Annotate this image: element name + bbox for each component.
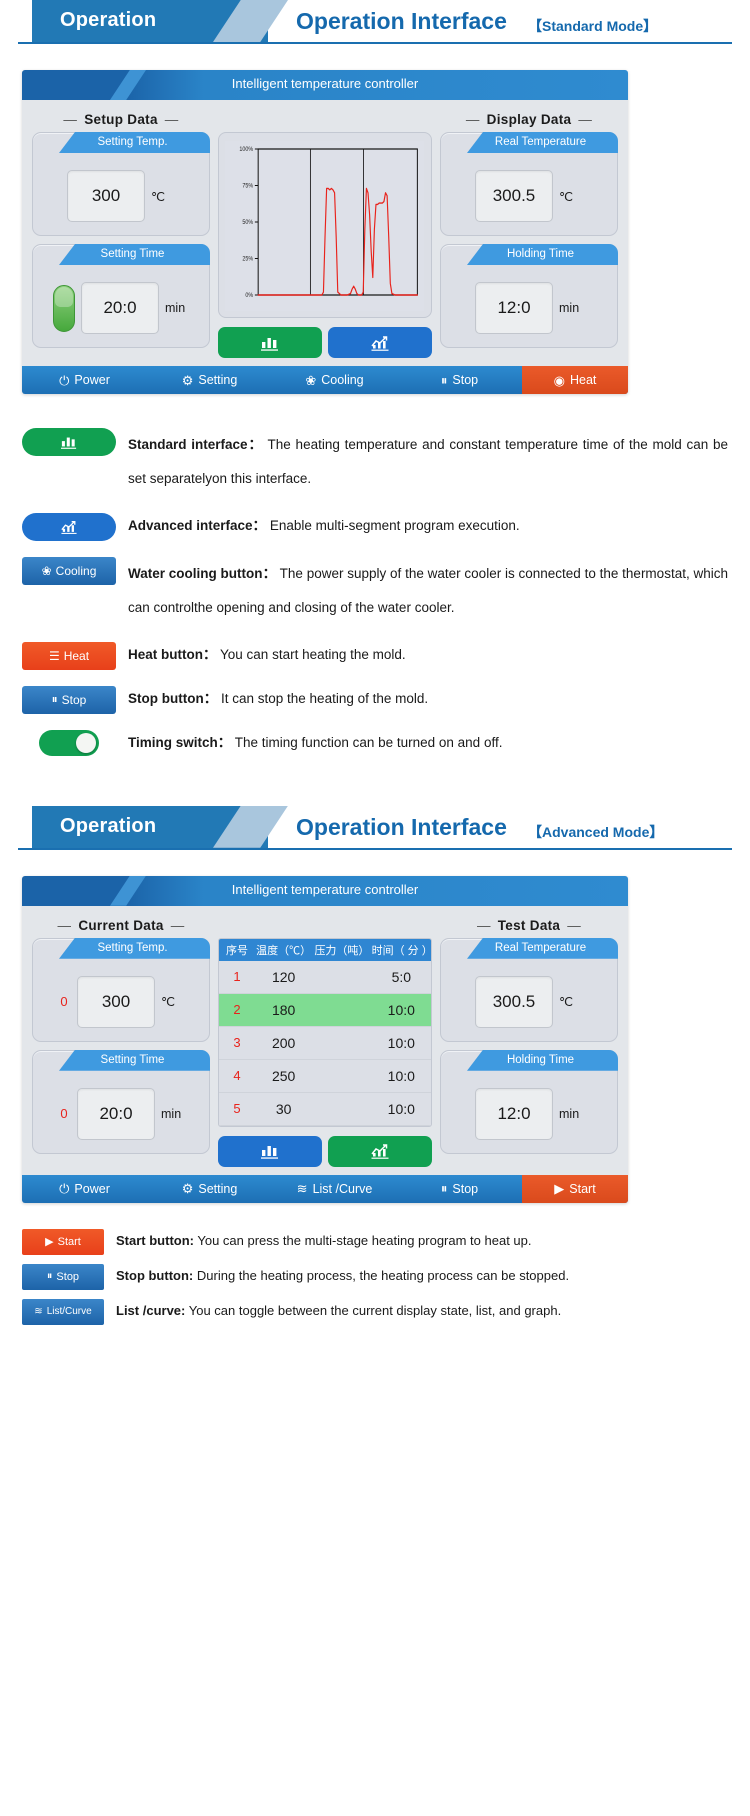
setting-time-value-2[interactable]: 20:0 bbox=[77, 1088, 155, 1140]
card-real-temp: Real Temperature 300.5 ℃ bbox=[440, 132, 618, 236]
legend-text-cooling: Water cooling button： The power supply o… bbox=[128, 557, 728, 626]
fan-icon: ❀ bbox=[305, 374, 316, 387]
card-setting-temp[interactable]: Setting Temp. 300 ℃ bbox=[32, 132, 210, 236]
device-panel-standard: Intelligent temperature controller —Setu… bbox=[22, 70, 628, 394]
svg-text:75%: 75% bbox=[242, 183, 253, 190]
dash-left-3: — bbox=[51, 918, 79, 933]
nav-item-start[interactable]: ▶ Start bbox=[522, 1175, 628, 1203]
current-data-column: —Current Data— Setting Temp. 0 300 ℃ Set… bbox=[32, 914, 210, 1167]
dash-right: — bbox=[158, 112, 186, 127]
current-data-text: Current Data bbox=[78, 918, 163, 933]
device-body: —Setup Data— Setting Temp. 300 ℃ Setting… bbox=[22, 100, 628, 366]
legend-chip-label-list-curve: List/Curve bbox=[47, 1306, 92, 1317]
legend-chip-standard-interface[interactable] bbox=[22, 428, 116, 456]
page-title: Operation Interface bbox=[296, 8, 507, 35]
legend2-body-0: You can press the multi-stage heating pr… bbox=[197, 1233, 531, 1248]
cell-time: 10:0 bbox=[372, 1068, 431, 1084]
svg-text:50%: 50% bbox=[242, 220, 253, 227]
legend-chip-label-stop-2: Stop bbox=[56, 1271, 79, 1283]
bar-chart-icon bbox=[259, 1142, 281, 1160]
card-setting-time-tab-2: Setting Time bbox=[59, 1050, 210, 1071]
cell-time: 10:0 bbox=[372, 1101, 431, 1117]
mode-badge: 【Standard Mode】 bbox=[528, 16, 657, 36]
card-setting-time-inner-2: 0 20:0 min bbox=[33, 1075, 209, 1153]
th-pressure: 压力（吨） bbox=[312, 942, 371, 958]
card-real-temp-2: Real Temperature 300.5 ℃ bbox=[440, 938, 618, 1042]
section-header-standard: Operation Operation Interface 【Standard … bbox=[18, 0, 732, 44]
holding-time-unit-2: min bbox=[559, 1107, 583, 1121]
chart-column: 100%75%50%25%0% bbox=[218, 108, 432, 358]
legend-row-list-curve: ≋ List/Curve List /curve: You can toggle… bbox=[22, 1299, 728, 1325]
temperature-chart: 100%75%50%25%0% bbox=[225, 141, 424, 311]
card-setting-temp-2[interactable]: Setting Temp. 0 300 ℃ bbox=[32, 938, 210, 1042]
legend-row-stop: ⏸ Stop Stop button： It can stop the heat… bbox=[22, 686, 728, 714]
table-body: 11205:0218010:0320010:0425010:053010:0 bbox=[219, 961, 431, 1126]
legend2-body-1: During the heating process, the heating … bbox=[197, 1268, 569, 1283]
table-row[interactable]: 53010:0 bbox=[219, 1093, 431, 1126]
legend-standard: Standard interface： The heating temperat… bbox=[22, 428, 728, 756]
legend-chip-label-stop: Stop bbox=[62, 693, 87, 707]
timing-switch-toggle[interactable] bbox=[53, 285, 75, 332]
nav-item-cooling[interactable]: ❀ Cooling bbox=[272, 366, 397, 394]
legend2-bold-0: Start button: bbox=[116, 1233, 194, 1248]
nav-item-stop[interactable]: ⏸ Stop bbox=[397, 366, 522, 394]
legend-chip-advanced-interface[interactable] bbox=[22, 513, 116, 541]
card-setting-time-2[interactable]: Setting Time 0 20:0 min bbox=[32, 1050, 210, 1154]
toggle-on-icon bbox=[76, 733, 96, 753]
legend-chip-list-curve[interactable]: ≋ List/Curve bbox=[22, 1299, 104, 1325]
gear-icon: ⚙ bbox=[182, 374, 194, 387]
legend-bold-0: Standard interface： bbox=[128, 437, 263, 452]
setting-time-unit-2: min bbox=[161, 1107, 185, 1121]
setting-time-unit: min bbox=[165, 301, 189, 315]
heat-icon: ◉ bbox=[554, 374, 565, 387]
legend2-bold-2: List /curve: bbox=[116, 1303, 185, 1318]
card-holding-time-inner: 12:0 min bbox=[441, 269, 617, 347]
nav-item-stop-2[interactable]: ⏸ Stop bbox=[397, 1175, 522, 1203]
chart-spacer-label bbox=[218, 108, 432, 132]
list-view-button[interactable] bbox=[218, 1136, 322, 1167]
legend-bold-4: Stop button： bbox=[128, 691, 217, 706]
cell-index: 5 bbox=[219, 1101, 255, 1116]
pause-icon: ⏸ bbox=[441, 374, 448, 387]
card-setting-temp-inner: 300 ℃ bbox=[33, 157, 209, 235]
svg-text:100%: 100% bbox=[239, 147, 253, 154]
legend-body-4: It can stop the heating of the mold. bbox=[221, 691, 428, 706]
card-setting-time[interactable]: Setting Time 20:0 min bbox=[32, 244, 210, 348]
device-title-text-2: Intelligent temperature controller bbox=[22, 882, 628, 897]
nav-label-start: Start bbox=[569, 1182, 595, 1196]
legend-chip-start[interactable]: ▶ Start bbox=[22, 1229, 104, 1255]
test-data-label: —Test Data— bbox=[440, 914, 618, 938]
nav-label-heat: Heat bbox=[570, 373, 596, 387]
legend-advanced: ▶ Start Start button: You can press the … bbox=[22, 1229, 728, 1325]
card-setting-temp-tab: Setting Temp. bbox=[59, 132, 210, 153]
nav-label-power: Power bbox=[74, 373, 109, 387]
table-header-row: 序号 温度（℃） 压力（吨） 时间（ 分 ） bbox=[219, 939, 431, 961]
chart-panel: 100%75%50%25%0% bbox=[218, 132, 432, 318]
card-real-temp-tab: Real Temperature bbox=[467, 132, 618, 153]
card-holding-time-2: Holding Time 12:0 min bbox=[440, 1050, 618, 1154]
standard-interface-button[interactable] bbox=[218, 327, 322, 358]
card-holding-time-tab: Holding Time bbox=[467, 244, 618, 265]
card-holding-time: Holding Time 12:0 min bbox=[440, 244, 618, 348]
legend-text-stop-2: Stop button: During the heating process,… bbox=[116, 1264, 728, 1288]
legend-bold-2: Water cooling button： bbox=[128, 566, 276, 581]
device-body-2: —Current Data— Setting Temp. 0 300 ℃ Set… bbox=[22, 906, 628, 1175]
bar-chart-icon bbox=[59, 434, 79, 450]
pause-icon: ⏸ bbox=[441, 1182, 448, 1195]
legend-row-cooling: ❀ Cooling Water cooling button： The powe… bbox=[22, 557, 728, 626]
legend-row-start: ▶ Start Start button: You can press the … bbox=[22, 1229, 728, 1255]
legend-row-advanced-interface: Advanced interface： Enable multi-segment… bbox=[22, 513, 728, 541]
setting-time-index: 0 bbox=[57, 1106, 71, 1121]
listcurve-icon: ≋ bbox=[297, 1182, 308, 1195]
card-setting-time-inner: 20:0 min bbox=[33, 269, 209, 347]
nav-item-power[interactable]: ⏻ Power bbox=[22, 366, 147, 394]
nav-label-stop-2: Stop bbox=[452, 1182, 478, 1196]
nav-item-setting[interactable]: ⚙ Setting bbox=[147, 366, 272, 394]
display-data-column: —Display Data— Real Temperature 300.5 ℃ … bbox=[440, 108, 618, 358]
card-setting-temp-tab-2: Setting Temp. bbox=[59, 938, 210, 959]
setup-data-label: —Setup Data— bbox=[32, 108, 210, 132]
setting-temp-unit: ℃ bbox=[151, 189, 175, 204]
legend-text-advanced-interface: Advanced interface： Enable multi-segment… bbox=[128, 513, 728, 539]
setting-time-value[interactable]: 20:0 bbox=[81, 282, 159, 334]
legend-row-timing-switch: Timing switch： The timing function can b… bbox=[22, 730, 728, 756]
test-data-text: Test Data bbox=[498, 918, 560, 933]
cell-index: 2 bbox=[219, 1002, 255, 1017]
th-time: 时间（ 分 ） bbox=[372, 942, 431, 958]
mode-badge-2: 【Advanced Mode】 bbox=[528, 822, 663, 842]
table-row[interactable]: 425010:0 bbox=[219, 1060, 431, 1093]
cell-temp: 180 bbox=[255, 1002, 312, 1018]
legend-body-5: The timing function can be turned on and… bbox=[235, 735, 503, 750]
legend-chip-label-heat: Heat bbox=[64, 649, 89, 663]
nav-item-setting-2[interactable]: ⚙ Setting bbox=[147, 1175, 272, 1203]
legend-body-3: You can start heating the mold. bbox=[220, 647, 406, 662]
legend-bold-5: Timing switch： bbox=[128, 735, 231, 750]
curve-view-button[interactable] bbox=[328, 1136, 432, 1167]
cell-temp: 120 bbox=[255, 969, 312, 985]
legend-bold-1: Advanced interface： bbox=[128, 518, 266, 533]
view-toggle-buttons bbox=[218, 1136, 432, 1167]
card-setting-time-tab: Setting Time bbox=[59, 244, 210, 265]
nav-label-power-2: Power bbox=[74, 1182, 109, 1196]
legend-chip-stop[interactable]: ⏸ Stop bbox=[22, 686, 116, 714]
table-row[interactable]: 11205:0 bbox=[219, 961, 431, 994]
setting-temp-value-2[interactable]: 300 bbox=[77, 976, 155, 1028]
legend2-body-2: You can toggle between the current displ… bbox=[189, 1303, 561, 1318]
cell-index: 1 bbox=[219, 969, 255, 984]
legend-text-list-curve: List /curve: You can toggle between the … bbox=[116, 1299, 728, 1323]
real-temp-unit: ℃ bbox=[559, 189, 583, 204]
cell-temp: 250 bbox=[255, 1068, 312, 1084]
power-icon: ⏻ bbox=[59, 374, 69, 387]
line-chart-icon bbox=[59, 519, 79, 535]
listcurve-icon: ≋ bbox=[34, 1306, 42, 1317]
dash-left-2: — bbox=[459, 112, 487, 127]
cell-time: 10:0 bbox=[372, 1002, 431, 1018]
display-data-text: Display Data bbox=[487, 112, 572, 127]
card-holding-time-tab-2: Holding Time bbox=[467, 1050, 618, 1071]
pause-icon: ⏸ bbox=[47, 1270, 53, 1283]
setup-data-text: Setup Data bbox=[84, 112, 158, 127]
nav-label-setting: Setting bbox=[198, 373, 237, 387]
gear-icon: ⚙ bbox=[182, 1182, 194, 1195]
fan-icon: ❀ bbox=[42, 564, 52, 578]
dash-right-3: — bbox=[164, 918, 192, 933]
chart-area: 100%75%50%25%0% bbox=[225, 141, 424, 311]
line-chart-icon bbox=[369, 334, 391, 352]
cell-time: 5:0 bbox=[372, 969, 431, 985]
holding-time-unit: min bbox=[559, 301, 583, 315]
nav-label-cooling: Cooling bbox=[321, 373, 363, 387]
section-header-advanced: Operation Operation Interface 【Advanced … bbox=[18, 806, 732, 850]
cell-index: 3 bbox=[219, 1035, 255, 1050]
th-temp: 温度（℃） bbox=[255, 942, 312, 958]
cell-index: 4 bbox=[219, 1068, 255, 1083]
legend-text-timing-switch: Timing switch： The timing function can b… bbox=[128, 730, 728, 756]
section-tab-label-2: Operation bbox=[60, 815, 156, 838]
legend-chip-timing-switch[interactable] bbox=[39, 730, 99, 756]
holding-time-value-2: 12:0 bbox=[475, 1088, 553, 1140]
legend-chip-heat[interactable]: ☰ Heat bbox=[22, 642, 116, 670]
table-spacer-label bbox=[218, 914, 432, 938]
chart-toggle-buttons bbox=[218, 327, 432, 358]
legend2-bold-1: Stop button: bbox=[116, 1268, 193, 1283]
table-row[interactable]: 320010:0 bbox=[219, 1027, 431, 1060]
setting-temp-index: 0 bbox=[57, 994, 71, 1009]
power-icon: ⏻ bbox=[59, 1182, 69, 1195]
card-real-temp-inner-2: 300.5 ℃ bbox=[441, 963, 617, 1041]
play-icon: ▶ bbox=[554, 1182, 564, 1195]
current-data-label: —Current Data— bbox=[32, 914, 210, 938]
table-row[interactable]: 218010:0 bbox=[219, 994, 431, 1027]
dash-right-2: — bbox=[571, 112, 599, 127]
nav-label-stop: Stop bbox=[452, 373, 478, 387]
cell-temp: 30 bbox=[255, 1101, 312, 1117]
legend-bold-3: Heat button： bbox=[128, 647, 217, 662]
card-setting-temp-inner-2: 0 300 ℃ bbox=[33, 963, 209, 1041]
device-title-text: Intelligent temperature controller bbox=[22, 76, 628, 91]
display-data-label: —Display Data— bbox=[440, 108, 618, 132]
nav-item-heat[interactable]: ◉ Heat bbox=[522, 366, 628, 394]
legend-row-stop-2: ⏸ Stop Stop button: During the heating p… bbox=[22, 1264, 728, 1290]
legend-chip-stop-2[interactable]: ⏸ Stop bbox=[22, 1264, 104, 1290]
cell-time: 10:0 bbox=[372, 1035, 431, 1051]
legend-row-standard-interface: Standard interface： The heating temperat… bbox=[22, 428, 728, 497]
device-titlebar-2: Intelligent temperature controller bbox=[22, 876, 628, 906]
bar-chart-icon bbox=[259, 334, 281, 352]
card-holding-time-inner-2: 12:0 min bbox=[441, 1075, 617, 1153]
device-nav-standard: ⏻ Power ⚙ Setting ❀ Cooling ⏸ Stop ◉ Hea… bbox=[22, 366, 628, 394]
nav-label-list-curve: List /Curve bbox=[313, 1182, 373, 1196]
setting-temp-unit-2: ℃ bbox=[161, 994, 185, 1009]
svg-text:0%: 0% bbox=[245, 293, 253, 300]
legend-text-standard-interface: Standard interface： The heating temperat… bbox=[128, 428, 728, 497]
legend-body-1: Enable multi-segment program execution. bbox=[270, 518, 520, 533]
play-icon: ▶ bbox=[45, 1235, 53, 1248]
device-panel-advanced: Intelligent temperature controller —Curr… bbox=[22, 876, 628, 1203]
setup-data-column: —Setup Data— Setting Temp. 300 ℃ Setting… bbox=[32, 108, 210, 358]
section-tab-label: Operation bbox=[60, 9, 156, 32]
legend-chip-cooling[interactable]: ❀ Cooling bbox=[22, 557, 116, 585]
holding-time-value: 12:0 bbox=[475, 282, 553, 334]
nav-label-setting-2: Setting bbox=[198, 1182, 237, 1196]
legend-chip-label-start: Start bbox=[58, 1236, 81, 1248]
test-data-column: —Test Data— Real Temperature 300.5 ℃ Hol… bbox=[440, 914, 618, 1167]
dash-left: — bbox=[56, 112, 84, 127]
line-chart-icon bbox=[369, 1142, 391, 1160]
th-index: 序号 bbox=[219, 942, 255, 958]
legend-text-start: Start button: You can press the multi-st… bbox=[116, 1229, 728, 1253]
cell-temp: 200 bbox=[255, 1035, 312, 1051]
svg-text:25%: 25% bbox=[242, 256, 253, 263]
real-temp-value-2: 300.5 bbox=[475, 976, 553, 1028]
program-table: 序号 温度（℃） 压力（吨） 时间（ 分 ） 11205:0218010:032… bbox=[218, 938, 432, 1127]
legend-text-heat: Heat button： You can start heating the m… bbox=[128, 642, 728, 668]
nav-item-list-curve[interactable]: ≋ List /Curve bbox=[272, 1175, 397, 1203]
real-temp-value: 300.5 bbox=[475, 170, 553, 222]
heat-icon: ☰ bbox=[49, 649, 60, 663]
program-table-column: 序号 温度（℃） 压力（吨） 时间（ 分 ） 11205:0218010:032… bbox=[218, 914, 432, 1167]
dash-left-4: — bbox=[470, 918, 498, 933]
nav-item-power-2[interactable]: ⏻ Power bbox=[22, 1175, 147, 1203]
page-title-2: Operation Interface bbox=[296, 814, 507, 841]
card-real-temp-inner: 300.5 ℃ bbox=[441, 157, 617, 235]
pause-icon: ⏸ bbox=[52, 692, 58, 707]
dash-right-4: — bbox=[560, 918, 588, 933]
device-titlebar: Intelligent temperature controller bbox=[22, 70, 628, 100]
real-temp-unit-2: ℃ bbox=[559, 994, 583, 1009]
device-nav-advanced: ⏻ Power ⚙ Setting ≋ List /Curve ⏸ Stop ▶… bbox=[22, 1175, 628, 1203]
card-real-temp-tab-2: Real Temperature bbox=[467, 938, 618, 959]
legend-chip-label-cooling: Cooling bbox=[56, 564, 97, 578]
legend-text-stop: Stop button： It can stop the heating of … bbox=[128, 686, 728, 712]
setting-temp-value[interactable]: 300 bbox=[67, 170, 145, 222]
advanced-interface-button[interactable] bbox=[328, 327, 432, 358]
legend-row-heat: ☰ Heat Heat button： You can start heatin… bbox=[22, 642, 728, 670]
